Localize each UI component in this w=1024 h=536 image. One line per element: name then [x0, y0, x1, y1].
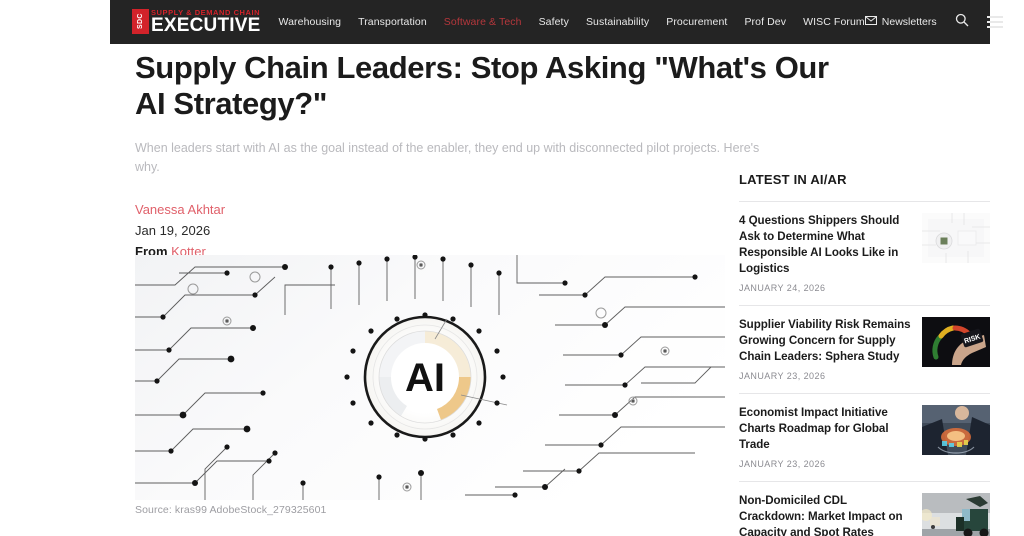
list-item-text: Economist Impact Initiative Charts Roadm… [739, 405, 912, 469]
hamburger-bar [987, 26, 1003, 29]
main-navigation: Warehousing Transportation Software & Te… [279, 16, 865, 28]
nav-item-transportation[interactable]: Transportation [358, 16, 427, 28]
header-actions: Newsletters [865, 13, 1003, 32]
list-item-headline[interactable]: Supplier Viability Risk Remains Growing … [739, 317, 912, 365]
nav-item-procurement[interactable]: Procurement [666, 16, 727, 28]
envelope-icon [865, 16, 877, 28]
hero-image-caption: Source: kras99 AdobeStock_279325601 [135, 504, 326, 516]
hero-image-graphic: AI [135, 255, 725, 500]
list-item[interactable]: 4 Questions Shippers Should Ask to Deter… [739, 201, 990, 305]
logo-line-2: EXECUTIVE [151, 17, 261, 35]
list-item-thumbnail[interactable] [922, 493, 990, 536]
list-item-text: 4 Questions Shippers Should Ask to Deter… [739, 213, 912, 293]
article-deck: When leaders start with AI as the goal i… [135, 139, 780, 178]
nav-item-safety[interactable]: Safety [539, 16, 569, 28]
page-title: Supply Chain Leaders: Stop Asking "What'… [135, 50, 850, 123]
hamburger-bar [987, 21, 1003, 24]
hero-ai-label: AI [405, 356, 445, 400]
site-header: SDC SUPPLY & DEMAND CHAIN EXECUTIVE Ware… [110, 0, 990, 44]
list-item[interactable]: Supplier Viability Risk Remains Growing … [739, 305, 990, 393]
logo-badge: SDC [132, 9, 149, 34]
newsletters-label: Newsletters [882, 16, 937, 28]
list-item-date: JANUARY 23, 2026 [739, 459, 912, 469]
nav-item-prof-dev[interactable]: Prof Dev [744, 16, 786, 28]
list-item-thumbnail[interactable] [922, 213, 990, 263]
nav-item-warehousing[interactable]: Warehousing [279, 16, 342, 28]
list-item-headline[interactable]: 4 Questions Shippers Should Ask to Deter… [739, 213, 912, 277]
nav-item-software-tech[interactable]: Software & Tech [444, 16, 522, 28]
hamburger-bar [987, 16, 1003, 19]
list-item[interactable]: Non-Domiciled CDL Crackdown: Market Impa… [739, 481, 990, 536]
list-item[interactable]: Economist Impact Initiative Charts Roadm… [739, 393, 990, 481]
list-item-headline[interactable]: Non-Domiciled CDL Crackdown: Market Impa… [739, 493, 912, 536]
nav-item-sustainability[interactable]: Sustainability [586, 16, 649, 28]
list-item-text: Non-Domiciled CDL Crackdown: Market Impa… [739, 493, 912, 536]
list-item-headline[interactable]: Economist Impact Initiative Charts Roadm… [739, 405, 912, 453]
global-trade-hands-icon [922, 405, 990, 455]
list-item-thumbnail[interactable] [922, 405, 990, 455]
hamburger-menu-button[interactable] [987, 16, 1003, 29]
risk-dial-dark-icon: RISK [922, 317, 990, 367]
logo-wordmark: SUPPLY & DEMAND CHAIN EXECUTIVE [151, 9, 261, 36]
page-root: SDC SUPPLY & DEMAND CHAIN EXECUTIVE Ware… [0, 0, 1024, 536]
sidebar-latest-in-ai-ar: LATEST IN AI/AR 4 Questions Shippers Sho… [739, 172, 990, 536]
search-button[interactable] [955, 13, 969, 32]
newsletters-link[interactable]: Newsletters [865, 16, 937, 28]
ai-circuit-illustration: AI [135, 255, 725, 500]
site-logo[interactable]: SDC SUPPLY & DEMAND CHAIN EXECUTIVE [132, 9, 261, 36]
ai-chip-light-icon [922, 213, 990, 263]
list-item-text: Supplier Viability Risk Remains Growing … [739, 317, 912, 381]
list-item-date: JANUARY 24, 2026 [739, 283, 912, 293]
sidebar-title: LATEST IN AI/AR [739, 172, 990, 187]
hero-image: AI [135, 255, 725, 500]
nav-item-wisc-forum[interactable]: WISC Forum [803, 16, 865, 28]
list-item-thumbnail[interactable]: RISK [922, 317, 990, 367]
search-icon [955, 13, 969, 32]
list-item-date: JANUARY 23, 2026 [739, 371, 912, 381]
truck-highway-icon [922, 493, 990, 536]
